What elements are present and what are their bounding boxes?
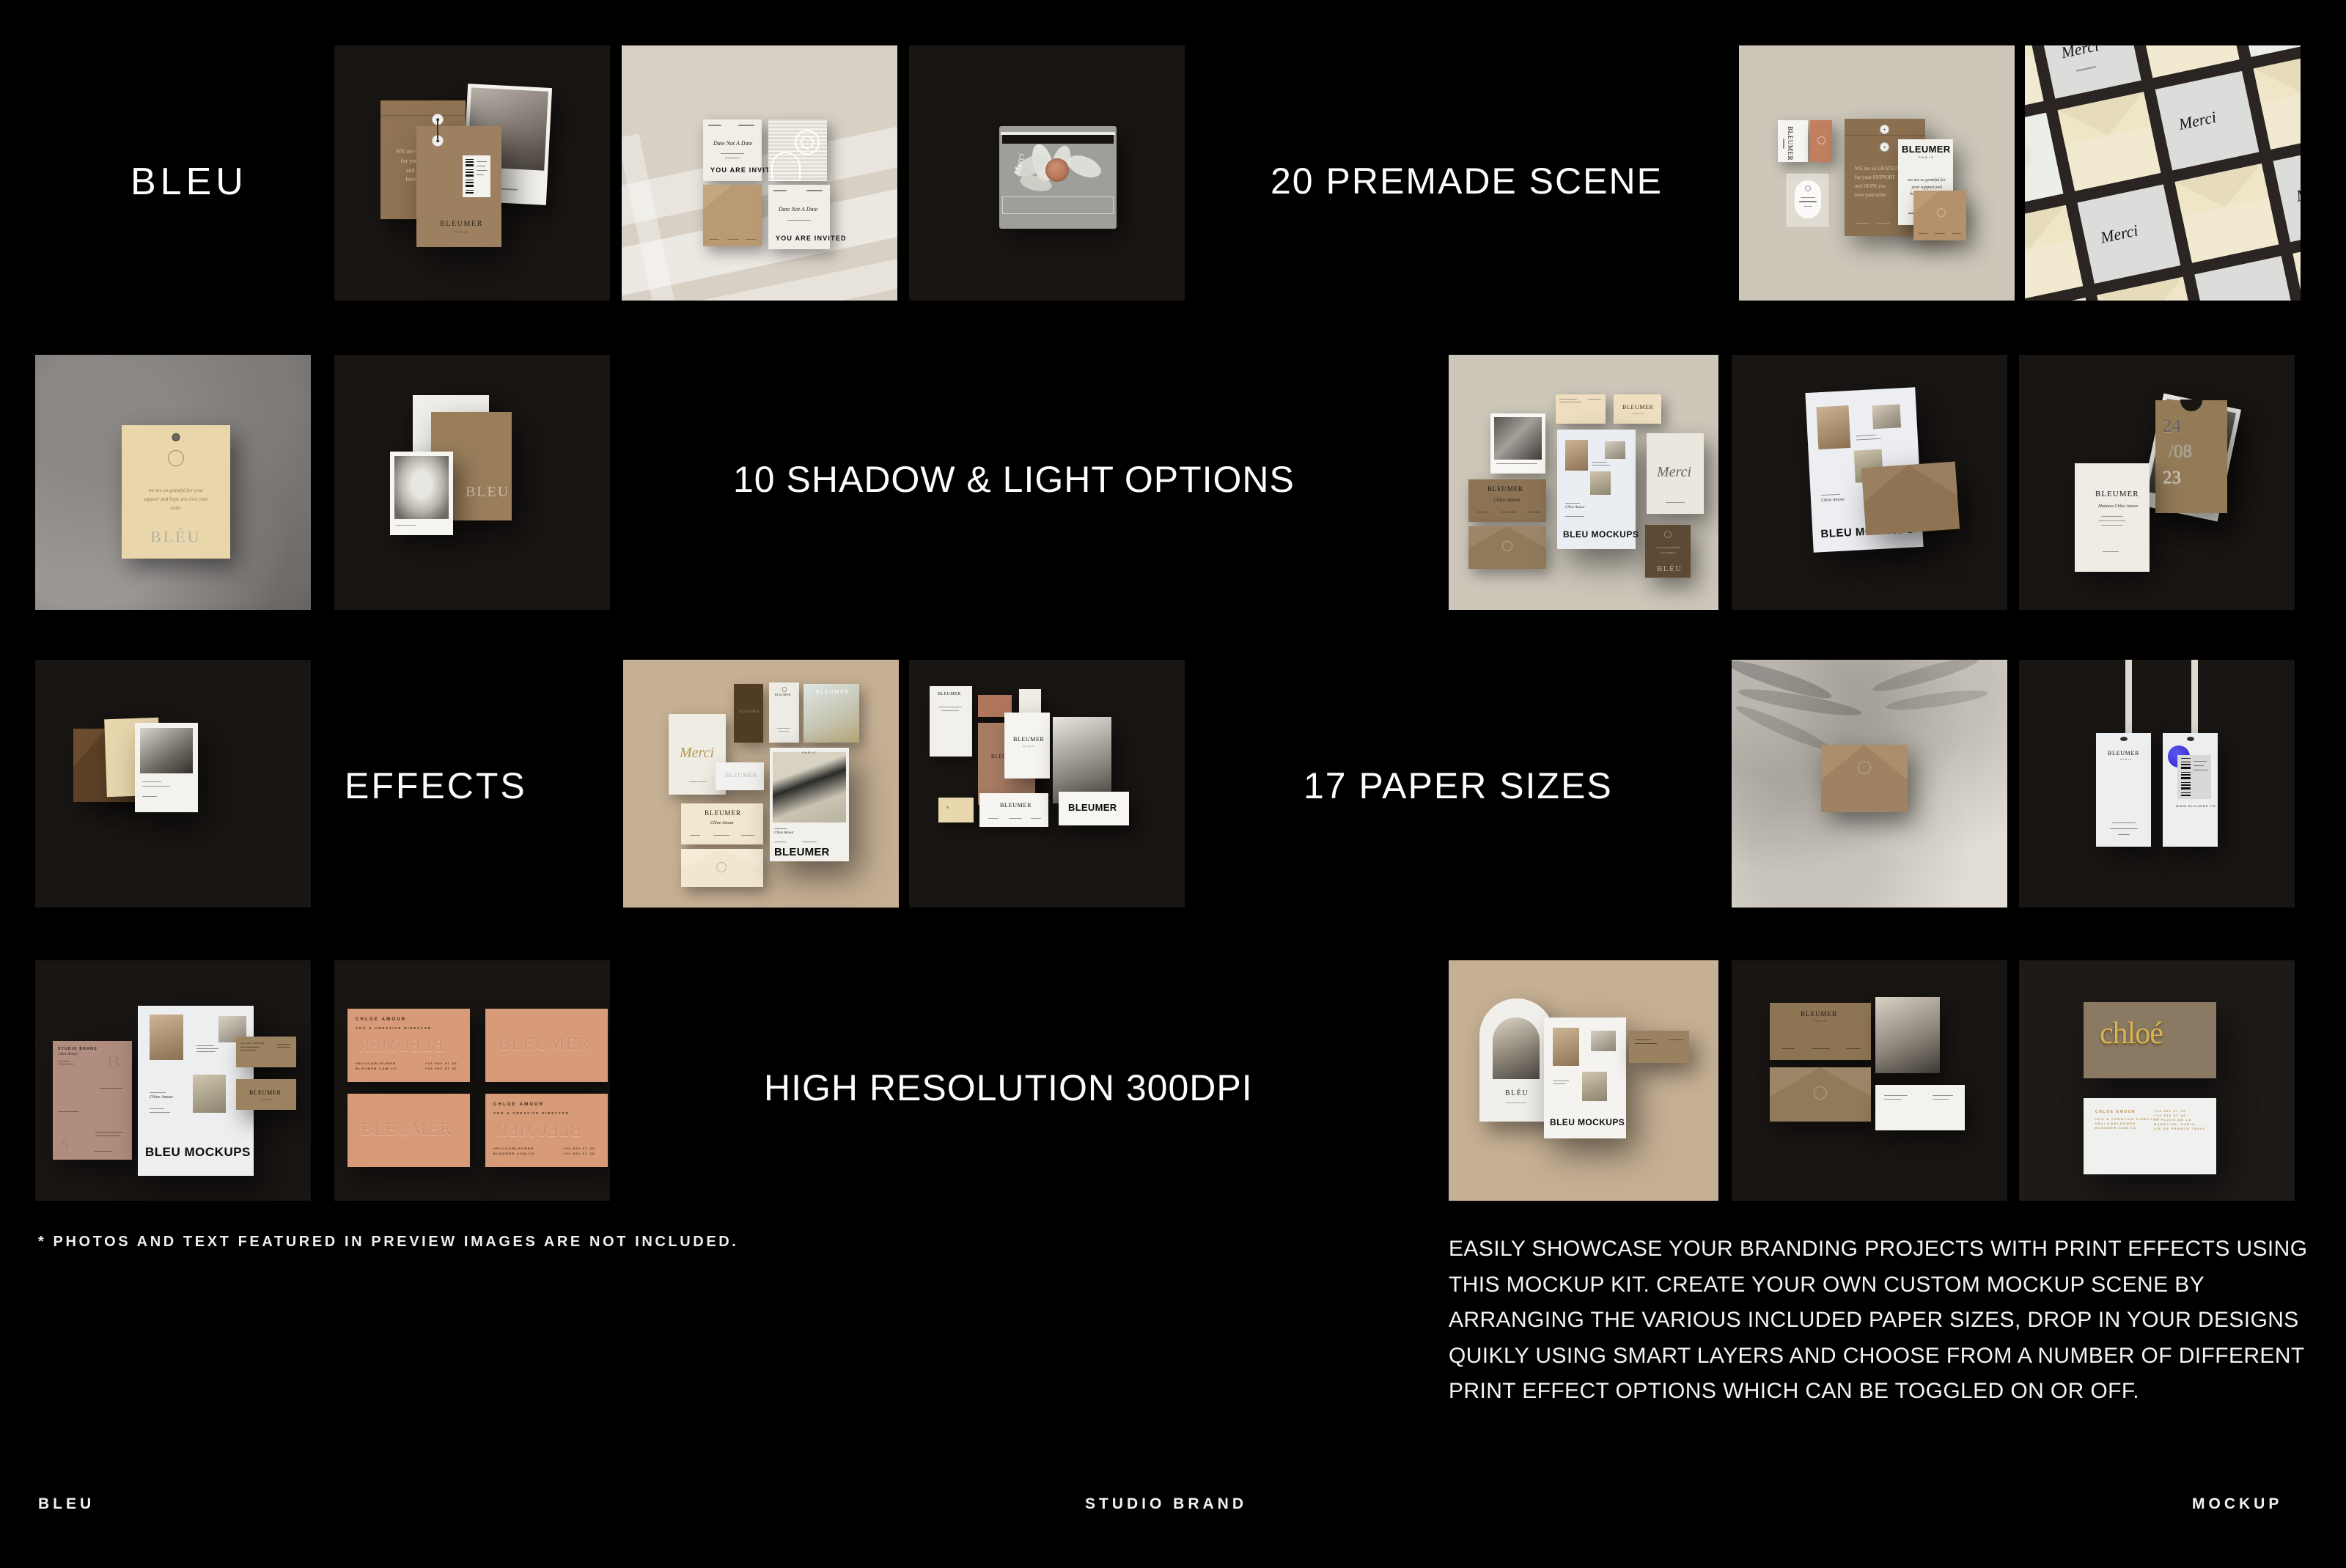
brown-set-white-card — [1875, 1085, 1965, 1130]
footer-right: MOCKUP — [2192, 1495, 2282, 1513]
oval-label — [1795, 180, 1821, 218]
grid-envelope — [2253, 51, 2301, 150]
abstract-wordmark: BLEUMER — [816, 690, 850, 695]
paper-wide-card: BLEUMER — [979, 793, 1048, 827]
merci-script: Merci — [2099, 221, 2140, 247]
invite-envelope — [703, 185, 762, 246]
ccc-email-1: HELLO@BLEUMER — [2095, 1122, 2136, 1125]
poster-headline-2: BLEU MOCKUPS — [145, 1145, 251, 1160]
white-strip-wordmark: BLEUMER — [775, 693, 791, 696]
closure-string — [437, 119, 438, 139]
grid-envelope — [2136, 45, 2239, 78]
flatlay-envelope-2 — [1468, 526, 1546, 569]
card-white-vertical: BLEUMER — [1778, 120, 1808, 162]
bsc-wordmark: BLEUMER — [1801, 1010, 1837, 1017]
envelope-sub: PARIS — [455, 230, 469, 234]
bleu-card-wordmark: BLÉU — [150, 528, 201, 547]
tile-glassine-seal[interactable]: Merci — [909, 45, 1185, 301]
strip-wordmark: BLEUMER — [739, 710, 760, 714]
tile-palm-shadow[interactable] — [1732, 660, 2007, 908]
tile-flatlay-full[interactable]: BLEUMER PARIS BLEUMER Chloe Amour Chloe … — [1449, 355, 1718, 610]
grid-envelope — [2025, 205, 2083, 301]
grid-envelope — [2174, 163, 2278, 263]
date-number-2: /08 — [2169, 441, 2192, 462]
paper-cream-sm: S — [938, 798, 974, 822]
terracotta-card-c: BLEUMER PARIS — [348, 1094, 470, 1167]
letterhead-wordmark: BLEUMER — [1902, 144, 1950, 155]
tcb-emboss: BLEUMER — [499, 1035, 590, 1055]
tcd-email-2: BLEUMER.COM.CO — [493, 1152, 535, 1155]
barcode-label — [463, 155, 490, 197]
hang-tag-front: BLEUMER PARIS — [2096, 733, 2151, 847]
date-number-1: 24 — [2163, 416, 2181, 437]
flatlay-small-envelope — [1913, 191, 1966, 240]
flatlay-closure-top — [1880, 125, 1889, 134]
ccc-phone-1: +33 950 07 35 — [2154, 1109, 2186, 1113]
terracotta-card-a: CHLOE AMOUR CEO & CREATIVE DIRECTOR BLEU… — [348, 1009, 470, 1082]
grid-watercolor-card — [2233, 45, 2301, 57]
poly-bag — [1787, 174, 1828, 227]
grid-merci-card: Merci — [2155, 71, 2259, 171]
tag-barcode-label — [2177, 755, 2211, 799]
bbc1-name: CHLOE AMOUR — [240, 1042, 265, 1045]
tile-envelope-poster[interactable]: CKUPS WE are so GRATEFUL for your SUPPOR… — [334, 45, 610, 301]
letterhead-studio-name: STUDIO BRAND — [58, 1047, 98, 1051]
tag-sub: PARIS — [2120, 758, 2133, 761]
invite-pattern-card — [768, 119, 827, 181]
paper-photo-print — [1053, 717, 1111, 803]
tile-letterhead[interactable]: STUDIO BRAND Chloe Amour B S Chloe Amour… — [35, 960, 311, 1201]
grid-merci-card: Merci — [2077, 184, 2180, 284]
sheet-wordmark: BLEUMER — [2095, 490, 2139, 498]
tile-paper-dark[interactable]: BLEUMER BLEUMER BLEUMER PARIS S BLEUMER … — [909, 660, 1185, 908]
cream-letter-card: BLEUMER Chloe Amour — [681, 803, 763, 844]
ccc-addr-2: MADELINE, PARIS, — [2154, 1122, 2197, 1126]
dark-brown-card: we are so grateful for your support BLÉU — [1645, 525, 1691, 578]
bc-wordmark: BLEUMER — [1622, 404, 1653, 411]
pw1-wordmark: BLEUMER — [938, 692, 960, 696]
grid-merci-card — [2194, 256, 2298, 301]
heading-shadow: 10 SHADOW & LIGHT OPTIONS — [733, 458, 1295, 501]
cream-envelope-board — [681, 849, 763, 887]
tile-merci-grid[interactable]: Merci Merci — [2025, 45, 2301, 301]
footer-left: BLEU — [38, 1495, 95, 1513]
arch-poster-headline: BLEU MOCKUPS — [1550, 1117, 1625, 1127]
tcc-sub: PARIS — [394, 1142, 409, 1145]
brown-set-envelope — [1770, 1067, 1871, 1122]
tca-name: CHLOE AMOUR — [356, 1017, 406, 1022]
heading-scenes: 20 PREMADE SCENE — [1271, 160, 1663, 202]
tcd-phone-2: +33 950 07 36 — [563, 1152, 595, 1155]
date-sleeve: 24 /08 23 — [2155, 400, 2227, 513]
terracotta-card-d: CHLOE AMOUR CEO & CREATIVE DIRECTOR BLEU… — [485, 1094, 608, 1167]
card-terracotta — [1810, 120, 1832, 162]
business-card-cream: BLEUMER PARIS — [1614, 394, 1661, 424]
description-paragraph: EASILY SHOWCASE YOUR BRANDING PROJECTS W… — [1449, 1232, 2321, 1410]
tcb-sub: PARIS — [532, 1057, 547, 1060]
chloe-gold-card: chloé — [2084, 1002, 2216, 1078]
tag-website: WWW.BLEUMER.FR — [2176, 804, 2216, 808]
envelope-front: BLEUMER PARIS — [416, 126, 501, 247]
tile-arch-scene[interactable]: BLÉU BLEU MOCKUPS — [1449, 960, 1718, 1201]
product-showcase-page: BLEU CKUPS WE are so GRATEFUL for your S… — [0, 0, 2346, 1568]
framed-photo — [1490, 413, 1545, 474]
flatlay-closure-bottom — [1880, 142, 1889, 152]
bsc-sub: PARIS — [1814, 1020, 1827, 1023]
tca-emboss: BLEUMER — [358, 1037, 444, 1056]
terracotta-card-b: BLEUMER PARIS — [485, 1009, 608, 1082]
tile-invites-light[interactable]: Date Not A Date YOU ARE INVITED Date Not… — [622, 45, 897, 301]
letterhead-cream — [1556, 394, 1606, 424]
invite-script-1: Date Not A Date — [713, 140, 752, 147]
tile-date-sleeve[interactable]: 24 /08 23 BLEUMER Madame Chloe Amour — [2019, 355, 2295, 610]
tcd-email-1: HELLO@BLEUMER — [493, 1146, 534, 1150]
arch-card: BLÉU — [1479, 998, 1554, 1122]
dark-brown-strip: BLEUMER — [734, 684, 763, 743]
tile-terracotta-cards[interactable]: CHLOE AMOUR CEO & CREATIVE DIRECTOR BLEU… — [334, 960, 610, 1201]
dark-card-wordmark: BLÉU — [1657, 564, 1683, 573]
photo-print — [390, 452, 453, 535]
tile-effects-set[interactable] — [35, 660, 311, 908]
glassine-dark-band — [1002, 133, 1114, 144]
tag-ribbon-right — [2191, 660, 2198, 737]
sleeve-thumb-notch — [2180, 400, 2202, 411]
paper-bleumer-wide: BLEUMER — [1059, 792, 1129, 825]
abstract-photo: BLEUMER — [804, 684, 859, 743]
tcd-emboss: BLEUMER — [496, 1122, 581, 1141]
date-number-3: 23 — [2163, 468, 2181, 488]
arch-brown-card — [1629, 1031, 1689, 1063]
bleu-card: we are so grateful for your support and … — [122, 425, 230, 559]
envelope-wordmark: BLEUMER — [440, 220, 483, 228]
tile-hang-tags[interactable]: BLEUMER PARIS WWW.BLEUMER.FR — [2019, 660, 2295, 908]
invite-headline-2: YOU ARE INVITED — [776, 235, 847, 242]
glassine-envelope: Merci — [999, 126, 1117, 229]
merci-card-large: Merci — [1647, 433, 1704, 514]
tca-phone-2: +33 950 07 36 — [425, 1067, 457, 1070]
disclaimer-note: * PHOTOS AND TEXT FEATURED IN PREVIEW IM… — [38, 1234, 738, 1251]
tcd-role: CEO & CREATIVE DIRECTOR — [493, 1111, 570, 1115]
chloe-wordmark: chloé — [2100, 1016, 2163, 1051]
brown-set-photo — [1875, 997, 1940, 1073]
grid-envelope — [2057, 92, 2161, 191]
tile-sleeve-photo[interactable]: BLEU — [334, 355, 610, 610]
board-poster-headline: BLEUMER — [774, 846, 830, 858]
bc-sub: PARIS — [1633, 412, 1644, 415]
studio-letterhead: STUDIO BRAND Chloe Amour B S — [53, 1041, 132, 1160]
merci-gold-script: Merci — [680, 745, 714, 762]
tile-flatlay-stone[interactable]: BLEUMER WE are so GRATEFUL for your SUPP… — [1739, 45, 2015, 301]
wbc-wordmark: BLEUMER — [725, 772, 757, 779]
grid-envelope — [2292, 235, 2301, 301]
tcd-phone-1: +33 950 07 35 — [563, 1146, 595, 1150]
heading-brand: BLEU — [130, 160, 248, 204]
brown-card-wordmark: BLEUMER — [1488, 485, 1523, 493]
heading-effects: EFFECTS — [345, 765, 527, 807]
paper-card-mid: BLEUMER PARIS — [1004, 713, 1050, 779]
ccc-email-2: BLEUMER.COM.CO — [2095, 1126, 2137, 1130]
tile-chloe-gold[interactable]: chloé CHLOE AMOUR CEO & CREATIVE DIRECTO… — [2019, 960, 2295, 1201]
tca-email-1: HELLO@BLEUMER — [356, 1061, 396, 1065]
tag-wordmark: BLEUMER — [2108, 750, 2139, 757]
tile-brown-set[interactable]: BLEUMER PARIS — [1732, 960, 2007, 1201]
sleeve-wordmark: BLEU — [466, 484, 510, 501]
ccc-role: CEO & CREATIVE DIRECTOR — [2095, 1117, 2160, 1121]
brown-bcard-2: BLEUMER PARIS — [236, 1079, 296, 1110]
merci-card-script: Merci — [1657, 464, 1691, 481]
grid-envelope — [2097, 277, 2200, 301]
paper-white-1: BLEUMER — [930, 686, 972, 757]
brown-card: BLEUMER Chloe Amour — [1468, 479, 1546, 522]
poster-envelope — [1861, 462, 1960, 536]
grid-envelope — [2025, 45, 2043, 119]
ccc-phone-2: +33 950 07 36 — [2154, 1114, 2186, 1117]
bbc2-sub: PARIS — [262, 1098, 273, 1101]
grid-watercolor-card — [2025, 113, 2063, 213]
merci-script: Merci — [2059, 45, 2100, 62]
ccc-addr-1: 49 PLACE DE LA — [2154, 1118, 2192, 1122]
merci-grid-container: Merci Merci — [2025, 45, 2301, 301]
poster-bleu-mockups: Chloe Amour BLEU MOCKUPS — [1557, 430, 1636, 549]
tca-role: CEO & CREATIVE DIRECTOR — [356, 1026, 432, 1030]
brown-bcard-1: CHLOE AMOUR — [236, 1037, 296, 1067]
tile-floral-tag[interactable]: we are so grateful for your support and … — [35, 355, 311, 610]
tile-poster-frame[interactable]: Chloe Amour BLEU MOCKUPS — [1732, 355, 2007, 610]
ccc-addr-3: ILE DE FRANCE 75012 — [2154, 1127, 2205, 1130]
letterhead-sub: PARIS — [1919, 155, 1935, 159]
heading-resolution: HIGH RESOLUTION 300DPI — [764, 1067, 1253, 1109]
merci-script: Merci — [2295, 179, 2301, 205]
brown-set-card: BLEUMER PARIS — [1770, 1003, 1871, 1060]
tca-email-2: BLEUMER.COM.CO — [356, 1067, 397, 1070]
sun-icon — [168, 450, 184, 466]
footer-center: STUDIO BRAND — [1085, 1495, 1247, 1513]
ccc-name: CHLOE AMOUR — [2095, 1110, 2136, 1114]
pcm-sub: PARIS — [1023, 745, 1035, 748]
arch-poster: BLEU MOCKUPS — [1544, 1017, 1626, 1138]
grid-merci-card: Merci — [2273, 143, 2301, 243]
white-business-card: BLEUMER — [716, 762, 764, 790]
bleumer-sheet: BLEUMER Madame Chloe Amour — [2075, 463, 2150, 572]
merci-script: Merci — [2177, 108, 2218, 134]
chloe-contact-card: CHLOE AMOUR CEO & CREATIVE DIRECTOR HELL… — [2084, 1098, 2216, 1174]
hang-tag-back: WWW.BLEUMER.FR — [2163, 733, 2218, 847]
tag-ribbon-left — [2125, 660, 2132, 737]
tile-moodboard-tan[interactable]: Merci BLEUMER BLEUMER BLEUMER BLEUMER BL… — [623, 660, 899, 908]
card-eyelet — [172, 433, 180, 441]
poster-headline: BLEU MOCKUPS — [1563, 529, 1639, 540]
pcm-wordmark: BLEUMER — [1013, 736, 1044, 743]
pwc-wordmark: BLEUMER — [1000, 802, 1032, 809]
bleumer-poster-board: PARIS Chloe Amour BLEUMER — [770, 748, 849, 861]
card-wordmark: BLEUMER — [1787, 126, 1794, 161]
brown-card-script: Chloe Amour — [1493, 497, 1521, 503]
invite-card-1: Date Not A Date YOU ARE INVITED — [703, 119, 762, 181]
tca-phone-1: +33 950 07 35 — [425, 1061, 457, 1065]
photo-flower — [394, 456, 449, 519]
effects-photo-card — [135, 723, 198, 812]
clc-wordmark: BLEUMER — [705, 809, 741, 817]
invite-script-2: Date Not A Date — [779, 206, 817, 213]
grid-merci-card: Merci — [2037, 45, 2141, 99]
arch-wordmark: BLÉU — [1505, 1089, 1529, 1097]
palm-envelope — [1821, 745, 1908, 812]
pbw-wordmark: BLEUMER — [1068, 802, 1117, 813]
bbc2-wordmark: BLEUMER — [249, 1089, 282, 1096]
wax-seal — [1045, 158, 1069, 182]
tcc-emboss: BLEUMER — [361, 1120, 452, 1140]
tcd-name: CHLOE AMOUR — [493, 1103, 544, 1107]
grid-watercolor-card — [2025, 298, 2103, 301]
white-strip: BLEUMER — [769, 682, 799, 743]
bleu-card-note: we are so grateful for your support and … — [141, 487, 211, 513]
poster-paris: PARIS — [802, 751, 817, 754]
heading-papersizes: 17 PAPER SIZES — [1303, 765, 1613, 807]
invite-card-2: Date Not A Date YOU ARE INVITED — [768, 185, 830, 249]
